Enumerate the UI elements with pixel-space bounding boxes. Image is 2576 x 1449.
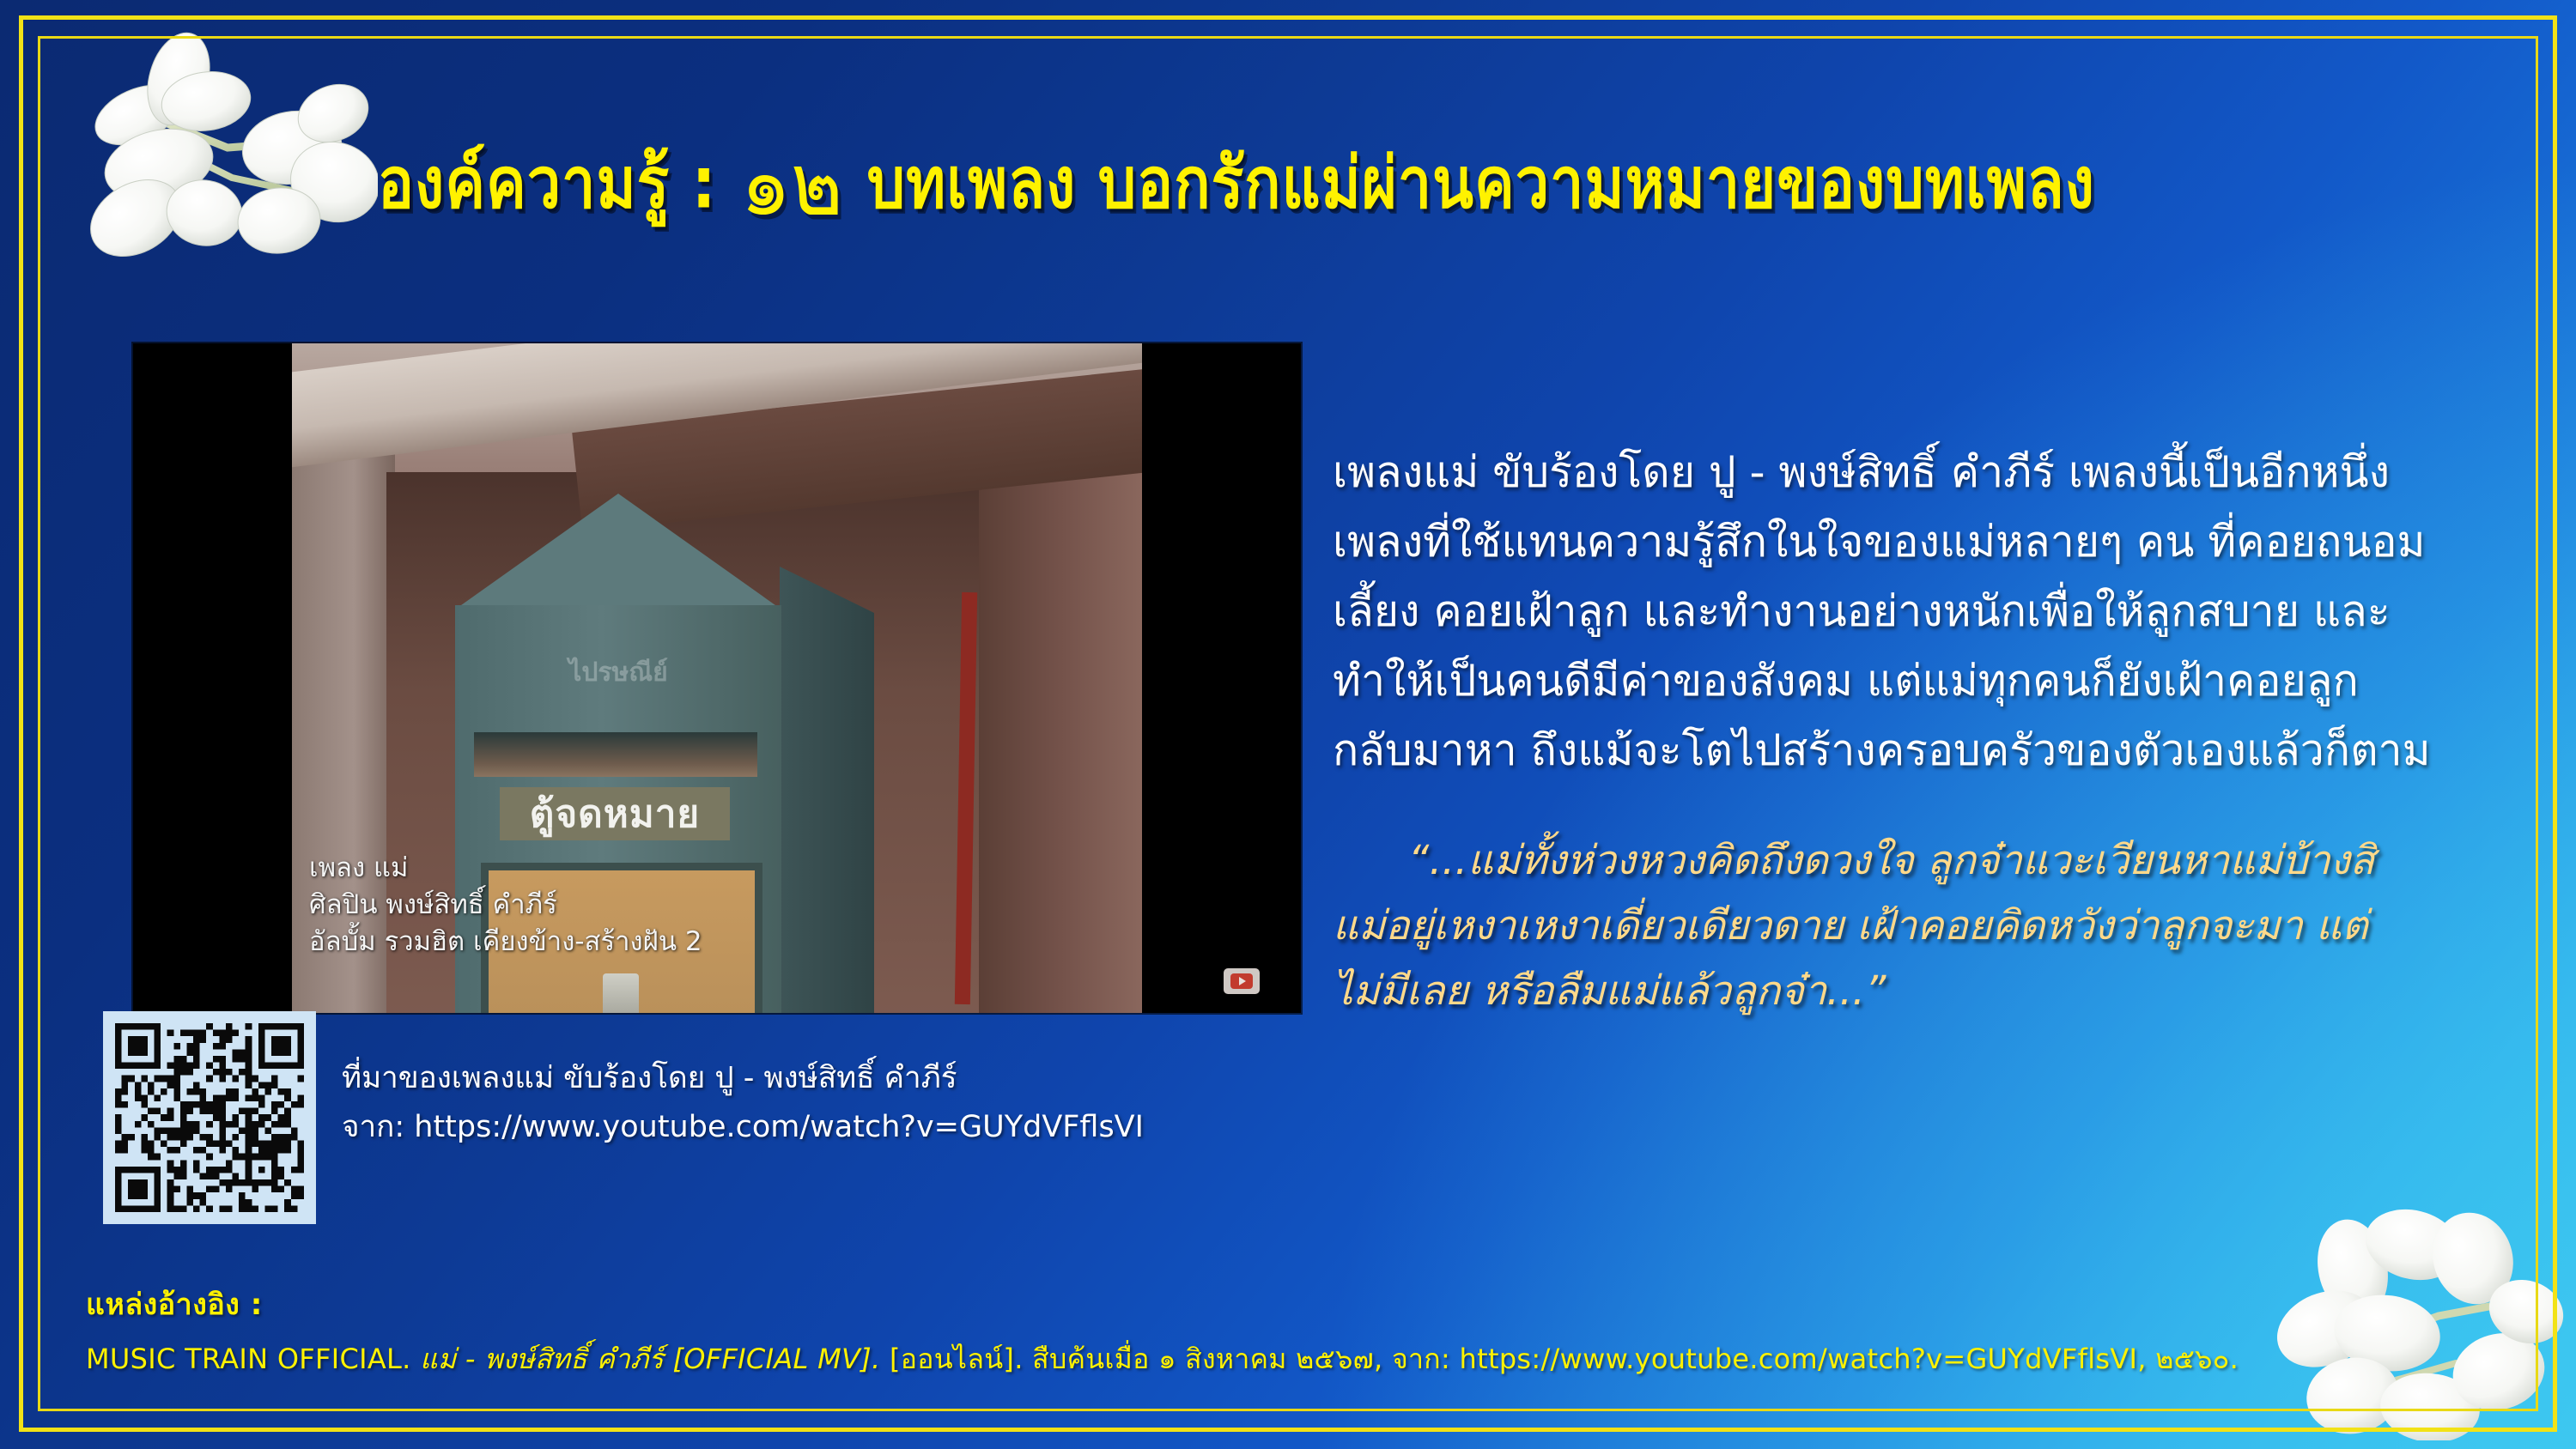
video-thumbnail[interactable]: ไปรษณีย์ ตู้จดหมาย เพลง แม่ ศิลปิน พงษ์ส… (133, 343, 1301, 1013)
reference-details: [ออนไลน์]. สืบค้นเมื่อ ๑ สิงหาคม ๒๕๖๗, จ… (890, 1343, 2239, 1375)
mailbox-label: ตู้จดหมาย (500, 787, 730, 840)
body-line: เลี้ยง คอยเฝ้าลูก และทำงานอย่างหนักเพื่อ… (1333, 577, 2535, 646)
slide-canvas: องค์ความรู้ : ๑๒ บทเพลง บอกรักแม่ผ่านควา… (0, 0, 2576, 1449)
quote-line: “...แม่ทั้งห่วงหวงคิดถึงดวงใจ ลูกจ๋าแวะเ… (1333, 828, 2552, 894)
mailbox-emboss-text: ไปรษณีย์ (537, 652, 700, 687)
jasmine-flower-bottom-right (2224, 1166, 2567, 1440)
reference-title: แม่ - พงษ์สิทธิ์ คำภีร์ [OFFICIAL MV]. (420, 1343, 880, 1375)
mailbox-roof (455, 494, 781, 609)
title-label: องค์ความรู้ : (378, 148, 717, 219)
jasmine-flower-top-left (34, 19, 378, 268)
mailbox-knob (603, 973, 639, 1013)
source-line-2[interactable]: จาก: https://www.youtube.com/watch?v=GUY… (342, 1103, 1144, 1152)
youtube-logo-icon (1224, 968, 1260, 994)
references-heading: แหล่งอ้างอิง : (86, 1281, 263, 1327)
qr-code[interactable] (103, 1011, 316, 1224)
overlay-artist: ศิลปิน พงษ์สิทธิ์ คำภีร์ (309, 887, 1142, 924)
title-number: ๑๒ (732, 113, 852, 252)
mailbox-slot (474, 732, 757, 777)
body-line: กลับมาหา ถึงแม้จะโตไปสร้างครอบครัวของตัว… (1333, 716, 2535, 785)
quote-line: ไม่มีเลย หรือลืมแม่แล้วลูกจ๋า...” (1333, 959, 2552, 1024)
body-line: เพลงที่ใช้แทนความรู้สึกในใจของแม่หลายๆ ค… (1333, 507, 2535, 577)
title-rest: บทเพลง บอกรักแม่ผ่านความหมายของบทเพลง (867, 148, 2095, 219)
overlay-album: อัลบั้ม รวมฮิต เคียงข้าง-สร้างฝัน 2 (309, 924, 1142, 961)
page-title: องค์ความรู้ : ๑๒ บทเพลง บอกรักแม่ผ่านควา… (378, 127, 2353, 239)
overlay-song: เพลง แม่ (309, 850, 1142, 887)
body-line: เพลงแม่ ขับร้องโดย ปู - พงษ์สิทธิ์ คำภีร… (1333, 438, 2535, 507)
video-frame: ไปรษณีย์ ตู้จดหมาย เพลง แม่ ศิลปิน พงษ์ส… (292, 343, 1142, 1013)
reference-source-name: MUSIC TRAIN OFFICIAL. (86, 1343, 411, 1375)
body-line: ทำให้เป็นคนดีมีค่าของสังคม แต่แม่ทุกคนก็… (1333, 646, 2535, 716)
quote-line: แม่อยู่เหงาเหงาเดี่ยวเดียวดาย เฝ้าคอยคิด… (1333, 894, 2552, 959)
lyric-quote: “...แม่ทั้งห่วงหวงคิดถึงดวงใจ ลูกจ๋าแวะเ… (1333, 828, 2552, 1024)
source-caption: ที่มาของเพลงแม่ ขับร้องโดย ปู - พงษ์สิทธ… (342, 1054, 1144, 1151)
references-entry: MUSIC TRAIN OFFICIAL. แม่ - พงษ์สิทธิ์ ค… (86, 1337, 2239, 1381)
body-paragraph: เพลงแม่ ขับร้องโดย ปู - พงษ์สิทธิ์ คำภีร… (1333, 438, 2535, 785)
source-line-1: ที่มาของเพลงแม่ ขับร้องโดย ปู - พงษ์สิทธ… (342, 1054, 1144, 1103)
video-overlay-caption: เพลง แม่ ศิลปิน พงษ์สิทธิ์ คำภีร์ อัลบั้… (292, 850, 1142, 960)
